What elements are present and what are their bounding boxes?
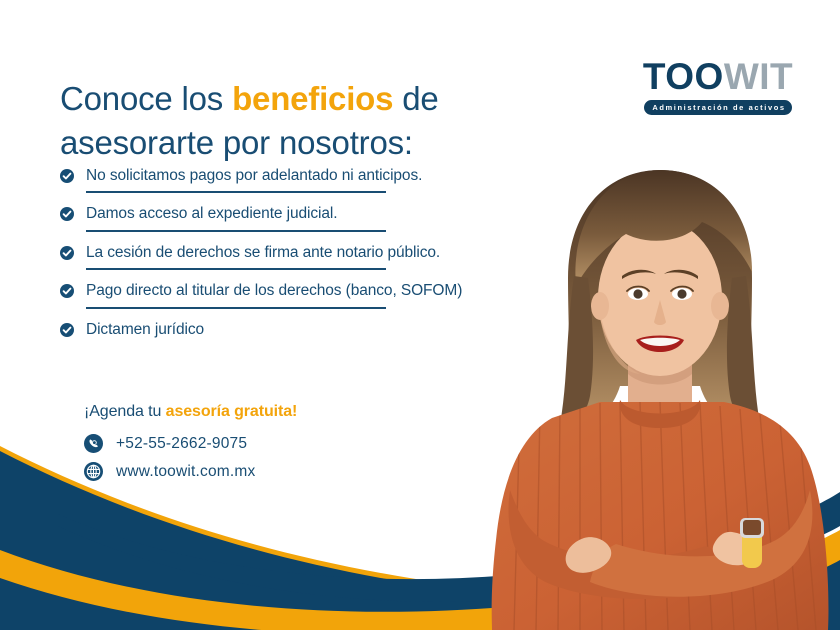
cta-highlight: asesoría gratuita!	[166, 403, 298, 420]
logo-tagline: Administración de activos	[644, 100, 791, 115]
mouth	[636, 336, 684, 353]
hair-front	[575, 170, 752, 286]
list-item: La cesión de derechos se firma ante nota…	[60, 243, 600, 270]
benefits-list: No solicitamos pagos por adelantado ni a…	[60, 166, 600, 347]
title-highlight: beneficios	[232, 80, 393, 117]
benefit-underline	[86, 268, 386, 270]
list-item: No solicitamos pagos por adelantado ni a…	[60, 166, 600, 193]
benefit-label: Pago directo al titular de los derechos …	[86, 281, 462, 300]
contact-website[interactable]: www.toowit.com.mx	[84, 462, 255, 481]
list-item: Pago directo al titular de los derechos …	[60, 281, 600, 308]
globe-icon	[84, 462, 103, 481]
contact-list: +52-55-2662-9075 www.toowit.com.mx	[84, 434, 255, 490]
neck-shadow	[628, 356, 692, 385]
neck	[628, 356, 692, 430]
pupil-right	[677, 289, 686, 298]
eye-right	[672, 288, 692, 300]
list-item: Dictamen jurídico	[60, 320, 600, 343]
check-circle-icon	[60, 323, 74, 337]
benefit-label: Damos acceso al expediente judicial.	[86, 204, 337, 223]
website-url: www.toowit.com.mx	[116, 463, 255, 481]
logo-word-wit: WIT	[724, 56, 793, 97]
eyebrow-left	[622, 270, 656, 279]
nose	[654, 300, 666, 325]
contact-phone[interactable]: +52-55-2662-9075	[84, 434, 255, 453]
title-line1-before: Conoce los	[60, 80, 232, 117]
eyebrow-right	[664, 270, 698, 279]
hair-strand-right	[727, 276, 760, 425]
pupil-left	[633, 289, 642, 298]
benefit-underline	[86, 191, 386, 193]
ear-right	[711, 292, 729, 320]
title-line2: asesorarte por nosotros:	[60, 124, 413, 161]
benefit-label: Dictamen jurídico	[86, 320, 204, 339]
face	[598, 220, 722, 376]
benefit-underline	[86, 230, 386, 232]
teeth	[640, 338, 680, 346]
page-title: Conoce los beneficios deasesorarte por n…	[60, 77, 560, 164]
logo-word-too: TOO	[643, 56, 724, 97]
check-circle-icon	[60, 169, 74, 183]
face-shade-left	[598, 288, 640, 374]
eye-left	[628, 288, 648, 300]
cta-text: ¡Agenda tu asesoría gratuita!	[84, 403, 297, 421]
brand-logo: TOOWIT Administración de activos	[634, 58, 802, 115]
title-line1-after: de	[393, 80, 438, 117]
list-item: Damos acceso al expediente judicial.	[60, 204, 600, 231]
phone-number: +52-55-2662-9075	[116, 435, 247, 453]
logo-wordmark: TOOWIT	[634, 58, 802, 95]
benefit-label: No solicitamos pagos por adelantado ni a…	[86, 166, 422, 185]
check-circle-icon	[60, 246, 74, 260]
phone-icon	[84, 434, 103, 453]
check-circle-icon	[60, 284, 74, 298]
eyelid-right	[671, 287, 693, 292]
cta-prefix: ¡Agenda tu	[84, 403, 166, 420]
check-circle-icon	[60, 207, 74, 221]
benefit-underline	[86, 307, 386, 309]
sweater-collar	[620, 400, 701, 428]
eyelid-left	[627, 287, 649, 292]
benefit-label: La cesión de derechos se firma ante nota…	[86, 243, 440, 262]
promo-poster: TOOWIT Administración de activos Conoce …	[0, 0, 840, 630]
